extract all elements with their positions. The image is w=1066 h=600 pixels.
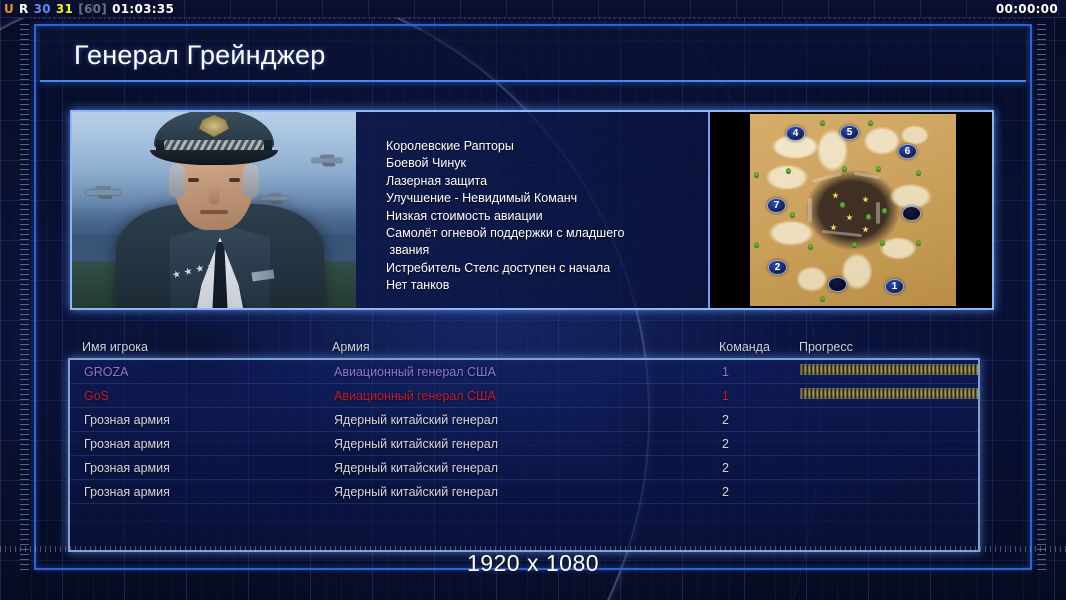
feature-line: Улучшение - Невидимый Команч [386, 190, 708, 207]
ruler-right [1037, 24, 1046, 570]
feature-line: Самолёт огневой поддержки с младшего [386, 225, 708, 242]
map-resource [840, 202, 845, 208]
map-resource [808, 244, 813, 250]
map-start-position-6: 6 [898, 144, 917, 159]
cap-visor [150, 150, 278, 165]
minimap-preview: 456721 [750, 114, 956, 306]
map-start-position-empty [902, 206, 921, 221]
title-strip: Генерал Грейнджер [40, 30, 1026, 82]
map-objective-star [862, 226, 869, 233]
officer-cap [146, 112, 282, 166]
feature-line: Королевские Рапторы [386, 138, 708, 155]
hair-right [243, 164, 259, 198]
hud-clock-left: 01:03:35 [112, 2, 174, 16]
map-resource [786, 168, 791, 174]
ruler-left [20, 24, 29, 570]
feature-line: Низкая стоимость авиации [386, 208, 708, 225]
map-objective-star [846, 214, 853, 221]
feature-line: Боевой Чинук [386, 155, 708, 172]
map-start-position-7: 7 [767, 198, 786, 213]
map-objective-star [862, 196, 869, 203]
map-start-position-empty [828, 277, 847, 292]
map-road [854, 172, 880, 179]
map-resource [866, 214, 871, 220]
nose [209, 186, 220, 205]
loading-screen: UR 30 31 [60] 01:03:35 00:00:00 Генерал … [0, 0, 1066, 600]
map-road [812, 172, 842, 182]
map-resource [916, 170, 921, 176]
network-stats: UR 30 31 [60] 01:03:35 [0, 2, 174, 16]
map-road [822, 230, 862, 237]
eye-left [188, 178, 199, 182]
main-frame: Генерал Грейнджер [34, 24, 1032, 570]
hud-value-60: [60] [78, 2, 107, 16]
status-bar: UR 30 31 [60] 01:03:35 00:00:00 [0, 0, 1066, 18]
feature-line: Истребитель Стелс доступен с начала [386, 260, 708, 277]
page-title: Генерал Грейнджер [40, 40, 325, 71]
map-resource [880, 240, 885, 246]
map-resource [876, 166, 881, 172]
map-resource [868, 120, 873, 126]
hud-value-31: 31 [56, 2, 73, 16]
resolution-label: 1920 x 1080 [0, 550, 1066, 577]
map-resource [842, 166, 847, 172]
map-road [808, 198, 812, 222]
map-resource [790, 212, 795, 218]
map-start-position-5: 5 [840, 125, 859, 140]
uniform-ribbon [251, 270, 274, 282]
map-resource [852, 242, 857, 248]
map-road [876, 202, 880, 224]
general-portrait [72, 112, 356, 308]
map-start-position-1: 1 [885, 279, 904, 294]
aircraft-icon [86, 190, 120, 195]
feature-line: Лазерная защита [386, 173, 708, 190]
mouth [200, 210, 228, 214]
hair-left [169, 164, 185, 198]
map-objective-star [832, 192, 839, 199]
feature-line: Нет танков [386, 277, 708, 294]
aircraft-icon [312, 158, 343, 163]
map-start-position-2: 2 [768, 260, 787, 275]
map-start-position-4: 4 [786, 126, 805, 141]
feature-line: звания [386, 242, 708, 259]
hud-value-30: 30 [34, 2, 51, 16]
map-resource [916, 240, 921, 246]
general-info-panel: Королевские Рапторы Боевой Чинук Лазерна… [70, 110, 994, 310]
minimap-container: 456721 [708, 112, 992, 308]
eye-right [229, 178, 240, 182]
map-resource [820, 296, 825, 302]
aircraft-icon [261, 196, 290, 200]
hud-label-r: R [19, 2, 29, 16]
map-resource [754, 172, 759, 178]
map-resource [754, 242, 759, 248]
general-features-list: Королевские Рапторы Боевой Чинук Лазерна… [356, 112, 708, 308]
map-resource [882, 208, 887, 214]
hud-clock-right: 00:00:00 [996, 2, 1058, 16]
map-resource [820, 120, 825, 126]
hud-label-u: U [4, 2, 14, 16]
